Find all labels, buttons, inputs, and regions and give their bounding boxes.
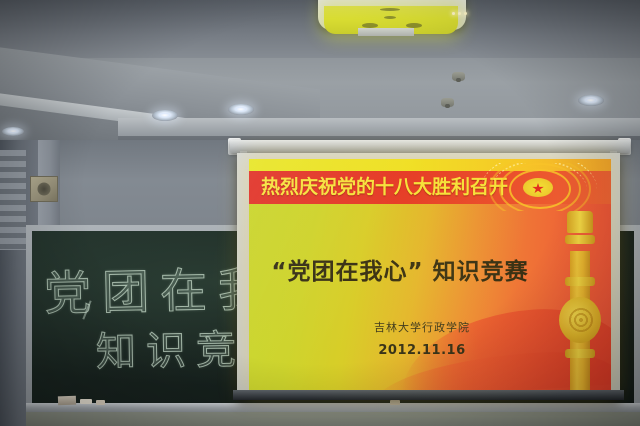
pillar-band bbox=[565, 235, 595, 244]
projector-status-leds bbox=[452, 12, 468, 18]
chalk-tray-lip bbox=[26, 412, 640, 426]
downlight-center-icon bbox=[228, 104, 254, 115]
blackboard-eraser[interactable] bbox=[58, 396, 76, 406]
ceiling-projector[interactable]: EPSON bbox=[318, 0, 466, 30]
chalk-piece[interactable] bbox=[390, 400, 400, 405]
screen-roller-housing[interactable]: screen bbox=[230, 140, 630, 153]
sprinkler-head-b-icon bbox=[441, 98, 454, 107]
slide-date: 2012.11.16 bbox=[297, 343, 547, 358]
slide-organization: 吉林大学行政学院 bbox=[297, 319, 547, 335]
downlight-left-icon bbox=[152, 110, 178, 121]
chalk-piece[interactable] bbox=[96, 400, 105, 405]
downlight-far-left-icon bbox=[2, 127, 24, 136]
wall-speaker-icon bbox=[30, 176, 58, 202]
sprinkler-head-a-icon bbox=[452, 72, 465, 81]
slide-title: “党团在我心” 知识竞赛 bbox=[249, 252, 551, 286]
projected-slide: 热烈庆祝党的十八大胜利召开 “党团在我心” 知识竞赛 吉林大学行政学院 2012… bbox=[249, 159, 611, 391]
pillar-band bbox=[565, 349, 595, 358]
screen-weight-bar bbox=[233, 390, 624, 400]
golden-pillar-motif bbox=[559, 211, 601, 391]
slide-banner-text: 热烈庆祝党的十八大胜利召开 bbox=[261, 172, 511, 203]
projector-ceiling-mount bbox=[358, 28, 414, 36]
wall-louvre-panel bbox=[0, 150, 26, 250]
chalk-piece[interactable] bbox=[80, 399, 92, 404]
classroom-scene: EPSON 党团在我心 知识竞赛 screen bbox=[0, 0, 640, 426]
downlight-right-icon bbox=[578, 95, 604, 106]
pillar-cap bbox=[567, 211, 593, 233]
pillar-band bbox=[565, 277, 595, 286]
red-star-emblem-icon bbox=[479, 163, 605, 211]
pillar-cloud-ornament bbox=[559, 297, 601, 343]
